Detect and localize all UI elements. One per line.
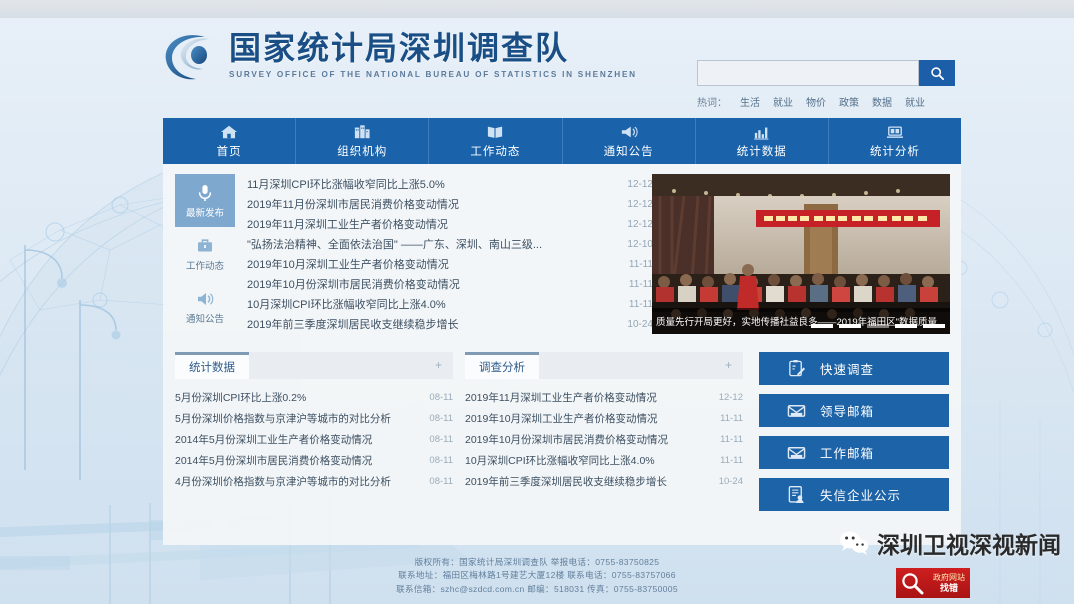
panel-tab[interactable]: 调查分析 <box>465 352 539 379</box>
swoosh-circle-logo-icon <box>163 30 219 82</box>
panel-item-date: 08-11 <box>429 434 453 445</box>
hot-word-1[interactable]: 就业 <box>773 94 793 109</box>
news-item-date: 10-24 <box>627 319 653 330</box>
hot-word-4[interactable]: 数据 <box>872 94 892 109</box>
action-work-mailbox[interactable]: 工作邮箱 <box>759 436 949 469</box>
nav-label: 统计分析 <box>870 143 920 159</box>
briefcase-icon <box>195 236 215 256</box>
panel-list-item[interactable]: 5月份深圳CPI环比上涨0.2% 08-11 <box>175 387 453 408</box>
panel-item-title: 5月份深圳CPI环比上涨0.2% <box>175 390 429 405</box>
panel-list-item[interactable]: 2014年5月份深圳市居民消费价格变动情况 08-11 <box>175 450 453 471</box>
news-item[interactable]: 11月深圳CPI环比涨幅收窄同比上涨5.0% 12-12 <box>247 174 653 194</box>
home-icon <box>219 124 239 140</box>
nav-item-statistical-data[interactable]: 统计数据 <box>696 118 829 164</box>
main-navigation: 首页 组织机构 工作动态 <box>163 118 961 164</box>
news-list: 11月深圳CPI环比涨幅收窄同比上涨5.0% 12-12 2019年11月份深圳… <box>235 174 653 334</box>
news-item-date: 12-12 <box>627 199 653 210</box>
nav-item-announcements[interactable]: 通知公告 <box>563 118 696 164</box>
logo-title-en: SURVEY OFFICE OF THE NATIONAL BUREAU OF … <box>229 71 637 79</box>
document-person-icon <box>787 485 806 504</box>
logo-title-cn: 国家统计局深圳调查队 <box>229 32 637 64</box>
search-area: 热词： 生活 就业 物价 政策 数据 就业 <box>697 60 955 109</box>
panel-item-date: 08-11 <box>429 455 453 466</box>
magnifier-icon <box>900 571 926 597</box>
action-label: 快速调查 <box>820 359 874 378</box>
wechat-watermark: 深圳卫视深视新闻 <box>839 526 1061 560</box>
nav-label: 工作动态 <box>470 143 520 159</box>
panel-item-title: 2019年前三季度深圳居民收支继续稳步增长 <box>465 474 719 489</box>
panel-item-title: 5月份深圳价格指数与京津沪等城市的对比分析 <box>175 411 429 426</box>
panel-item-date: 08-11 <box>429 476 453 487</box>
news-item-date: 11-11 <box>629 299 653 310</box>
news-item[interactable]: 2019年前三季度深圳居民收支继续稳步增长 10-24 <box>247 314 653 334</box>
news-item-title: 2019年10月份深圳市居民消费价格变动情况 <box>247 276 629 292</box>
panel-list-item[interactable]: 10月深圳CPI环比涨幅收窄同比上涨4.0% 11-11 <box>465 450 743 471</box>
panel-statistical-data: 统计数据 + 5月份深圳CPI环比上涨0.2% 08-11 5月份深圳价格指数与… <box>175 352 453 532</box>
page-root: 国家统计局深圳调查队 SURVEY OFFICE OF THE NATIONAL… <box>0 0 1074 604</box>
quick-action-list: 快速调查 领导邮箱 工作邮箱 <box>759 352 949 520</box>
news-item-title: 2019年前三季度深圳居民收支继续稳步增长 <box>247 316 627 332</box>
book-icon <box>485 124 505 140</box>
panel-item-date: 12-12 <box>719 392 743 403</box>
carousel-dot-2[interactable] <box>839 324 861 328</box>
badge-title: 政府网站 <box>933 572 965 583</box>
news-item-date: 12-12 <box>627 179 653 190</box>
top-strip <box>0 0 1074 18</box>
panel-item-title: 10月深圳CPI环比涨幅收窄同比上涨4.0% <box>465 453 720 468</box>
news-item[interactable]: "弘扬法治精神、全面依法治国" ——广东、深圳、南山三级... 12-10 <box>247 234 653 254</box>
action-label: 领导邮箱 <box>820 401 874 420</box>
news-tab-label: 最新发布 <box>186 205 224 219</box>
panel-body: 2019年11月深圳工业生产者价格变动情况 12-12 2019年10月深圳工业… <box>465 379 743 492</box>
news-item[interactable]: 2019年11月深圳工业生产者价格变动情况 12-12 <box>247 214 653 234</box>
news-item-date: 12-12 <box>627 219 653 230</box>
nav-item-home[interactable]: 首页 <box>163 118 296 164</box>
building-icon <box>352 124 372 140</box>
panel-more-button[interactable]: + <box>435 359 442 371</box>
clipboard-pen-icon <box>787 359 806 378</box>
news-item[interactable]: 10月深圳CPI环比涨幅收窄同比上涨4.0% 11-11 <box>247 294 653 314</box>
panel-list-item[interactable]: 2014年5月份深圳工业生产者价格变动情况 08-11 <box>175 429 453 450</box>
nav-item-organization[interactable]: 组织机构 <box>296 118 429 164</box>
hot-word-3[interactable]: 政策 <box>839 94 859 109</box>
panel-item-date: 11-11 <box>720 434 743 445</box>
envelope-icon <box>787 401 806 420</box>
wechat-icon <box>839 530 869 556</box>
microphone-icon <box>195 183 215 203</box>
carousel-dot-3[interactable] <box>867 324 889 328</box>
news-item[interactable]: 2019年11月份深圳市居民消费价格变动情况 12-12 <box>247 194 653 214</box>
news-tab-announcements[interactable]: 通知公告 <box>175 281 235 334</box>
action-leader-mailbox[interactable]: 领导邮箱 <box>759 394 949 427</box>
nav-item-statistical-analysis[interactable]: 统计分析 <box>829 118 961 164</box>
site-header: 国家统计局深圳调查队 SURVEY OFFICE OF THE NATIONAL… <box>0 18 1074 110</box>
panel-header: 调查分析 + <box>465 352 743 379</box>
action-label: 失信企业公示 <box>820 485 901 504</box>
panel-list-item[interactable]: 2019年前三季度深圳居民收支继续稳步增长 10-24 <box>465 471 743 492</box>
nav-label: 统计数据 <box>737 143 787 159</box>
panel-list-item[interactable]: 2019年10月深圳工业生产者价格变动情况 11-11 <box>465 408 743 429</box>
panel-item-date: 08-11 <box>429 413 453 424</box>
panel-item-title: 2014年5月份深圳工业生产者价格变动情况 <box>175 432 429 447</box>
action-dishonest-enterprise-disclosure[interactable]: 失信企业公示 <box>759 478 949 511</box>
carousel-dot-5[interactable] <box>923 324 945 328</box>
news-tab-work-updates[interactable]: 工作动态 <box>175 227 235 280</box>
panel-list-item[interactable]: 4月份深圳价格指数与京津沪等城市的对比分析 08-11 <box>175 471 453 492</box>
panel-item-date: 11-11 <box>720 455 743 466</box>
panel-header: 统计数据 + <box>175 352 453 379</box>
news-item-title: 11月深圳CPI环比涨幅收窄同比上涨5.0% <box>247 176 627 192</box>
news-tab-label: 通知公告 <box>186 311 224 325</box>
carousel-dots <box>811 324 945 328</box>
news-item[interactable]: 2019年10月份深圳市居民消费价格变动情况 11-11 <box>247 274 653 294</box>
panel-item-date: 08-11 <box>429 392 453 403</box>
hot-words-row: 热词： 生活 就业 物价 政策 数据 就业 <box>697 94 955 109</box>
panel-survey-analysis: 调查分析 + 2019年11月深圳工业生产者价格变动情况 12-12 2019年… <box>465 352 743 532</box>
news-item[interactable]: 2019年10月深圳工业生产者价格变动情况 11-11 <box>247 254 653 274</box>
panel-item-date: 10-24 <box>719 476 743 487</box>
news-item-title: 10月深圳CPI环比涨幅收窄同比上涨4.0% <box>247 296 629 312</box>
panel-more-button[interactable]: + <box>725 359 732 371</box>
news-tab-label: 工作动态 <box>186 258 224 272</box>
carousel-dot-4[interactable] <box>895 324 917 328</box>
panel-item-title: 2019年10月份深圳市居民消费价格变动情况 <box>465 432 720 447</box>
panel-list-item[interactable]: 2019年11月深圳工业生产者价格变动情况 12-12 <box>465 387 743 408</box>
panel-list-item[interactable]: 5月份深圳价格指数与京津沪等城市的对比分析 08-11 <box>175 408 453 429</box>
carousel-caption: 质量先行开局更好，实地传播社益良多——2019年福田区"数据质量... <box>652 308 950 334</box>
panel-tab[interactable]: 统计数据 <box>175 352 249 379</box>
nav-item-work-updates[interactable]: 工作动态 <box>429 118 562 164</box>
nav-label: 通知公告 <box>604 143 654 159</box>
panel-item-title: 2019年10月深圳工业生产者价格变动情况 <box>465 411 720 426</box>
gov-site-report-badge[interactable]: 政府网站 找错 <box>896 568 970 598</box>
action-quick-survey[interactable]: 快速调查 <box>759 352 949 385</box>
site-logo[interactable]: 国家统计局深圳调查队 SURVEY OFFICE OF THE NATIONAL… <box>163 30 637 82</box>
panel-item-title: 2014年5月份深圳市居民消费价格变动情况 <box>175 453 429 468</box>
laptop-icon <box>885 124 905 140</box>
news-item-title: 2019年11月份深圳市居民消费价格变动情况 <box>247 196 627 212</box>
news-carousel[interactable]: 质量先行开局更好，实地传播社益良多——2019年福田区"数据质量... <box>652 174 950 334</box>
action-label: 工作邮箱 <box>820 443 874 462</box>
hot-word-5[interactable]: 就业 <box>905 94 925 109</box>
panel-body: 5月份深圳CPI环比上涨0.2% 08-11 5月份深圳价格指数与京津沪等城市的… <box>175 379 453 492</box>
news-tab-list: 最新发布 工作动态 通知公告 <box>175 174 235 334</box>
panel-item-title: 2019年11月深圳工业生产者价格变动情况 <box>465 390 719 405</box>
search-input[interactable] <box>697 60 919 86</box>
hot-word-0[interactable]: 生活 <box>740 94 760 109</box>
hot-word-2[interactable]: 物价 <box>806 94 826 109</box>
news-section: 最新发布 工作动态 通知公告 <box>175 174 950 334</box>
panel-item-date: 11-11 <box>720 413 743 424</box>
news-item-date: 11-11 <box>629 259 653 270</box>
nav-label: 组织机构 <box>337 143 387 159</box>
speaker-icon <box>195 289 215 309</box>
carousel-dot-1[interactable] <box>811 324 833 328</box>
search-button[interactable] <box>919 60 955 86</box>
news-item-title: 2019年10月深圳工业生产者价格变动情况 <box>247 256 629 272</box>
bar-chart-icon <box>752 124 772 140</box>
badge-subtitle: 找错 <box>940 583 958 594</box>
nav-label: 首页 <box>217 143 242 159</box>
hot-words-label: 热词： <box>697 94 727 109</box>
news-item-date: 12-10 <box>627 239 653 250</box>
search-icon <box>930 66 945 81</box>
news-tab-latest[interactable]: 最新发布 <box>175 174 235 227</box>
envelope-icon <box>787 443 806 462</box>
megaphone-icon <box>619 124 639 140</box>
panel-list-item[interactable]: 2019年10月份深圳市居民消费价格变动情况 11-11 <box>465 429 743 450</box>
news-item-title: "弘扬法治精神、全面依法治国" ——广东、深圳、南山三级... <box>247 236 627 252</box>
panel-item-title: 4月份深圳价格指数与京津沪等城市的对比分析 <box>175 474 429 489</box>
content-card: 最新发布 工作动态 通知公告 <box>163 164 961 545</box>
news-item-date: 11-11 <box>629 279 653 290</box>
watermark-text: 深圳卫视深视新闻 <box>877 526 1061 560</box>
news-item-title: 2019年11月深圳工业生产者价格变动情况 <box>247 216 627 232</box>
